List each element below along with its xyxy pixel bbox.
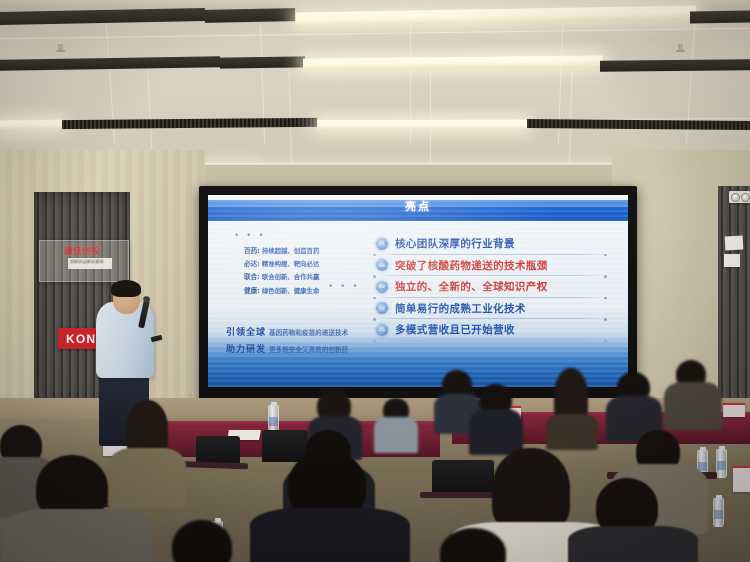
presentation-screen[interactable]: 亮点 • • • • • • 百药: 持续超越、创造百药 必达: 精准构建、靶向… [208,195,628,387]
slide-left-row: 必达: 精准构建、靶向必达 [244,258,319,268]
table-nameplate [733,466,750,492]
bullet-number-badge: 02 [376,259,388,271]
audience-torso [469,409,523,455]
audience-torso [250,508,410,562]
chair [432,460,494,494]
slide-bullet-item: 03 独立的、全新的、全球知识产权 [376,276,616,298]
slide-left-value: 联合创新、合作共赢 [262,272,320,281]
slide-bullet-item: 02 突破了核酸药物递送的技术瓶颈 [376,255,616,277]
bullet-text: 多模式营收且已开始营收 [395,322,515,337]
decorative-dots: • • • [234,231,266,241]
water-bottle [713,498,724,527]
plaque-title: 康佳创投 [64,244,100,257]
slide-left-key: 健康: [244,285,260,295]
slide-left-row: 百药: 持续超越、创造百药 [244,245,319,255]
wall-notice [724,254,740,267]
bullet-number-badge: 01 [376,238,388,250]
slide-left-row: 健康: 绿色创新、健康生命 [244,285,319,295]
emergency-light [729,191,750,203]
slide-bullet-list: 01 核心团队深厚的行业背景 02 突破了核酸药物递送的技术瓶颈 03 独立的、… [376,233,616,341]
sprinkler-head [678,44,683,52]
slide-left-value: 绿色创新、健康生命 [262,286,320,295]
slide-left-value: 精准构建、靶向必达 [262,259,320,268]
slide-left-value: 持续超越、创造百药 [262,246,320,255]
audience-torso [108,448,186,508]
bullet-text: 核心团队深厚的行业背景 [395,236,515,251]
bullet-number-badge: 04 [376,302,388,314]
plaque-subtitle: 创新创业孵化基地 [70,259,104,265]
audience-torso [664,382,722,430]
audience-torso [2,509,152,562]
slide-left-key: 联合: [244,271,260,281]
slide-bullet-item: 01 核心团队深厚的行业背景 [376,233,616,255]
table-nameplate [723,403,745,417]
audience-torso [546,414,598,450]
slide-footer-block: 引领全球 基因药物和疫苗的递送技术 助力研发 更多既安全又高效的创新药 [226,325,348,359]
bullet-number-badge: 05 [376,324,388,336]
slide-footer-key: 引领全球 [226,325,266,338]
slide-left-key: 百药: [244,245,260,255]
audience-hair [492,448,570,532]
slide-bullet-item: 04 简单易行的成熟工业化技术 [376,298,616,320]
audience-torso [374,417,418,453]
water-bottle [716,449,727,478]
bullet-text: 独立的、全新的、全球知识产权 [395,279,548,294]
slide-left-text-block: 百药: 持续超越、创造百药 必达: 精准构建、靶向必达 联合: 联合创新、合作共… [244,245,319,298]
slide-footer-value: 基因药物和疫苗的递送技术 [269,327,348,337]
wall-notice [725,236,744,251]
bullet-text: 简单易行的成熟工业化技术 [395,301,526,316]
slide-left-row: 联合: 联合创新、合作共赢 [244,271,319,281]
decorative-dots: • • • [328,282,360,292]
slide-footer-value: 更多既安全又高效的创新药 [269,344,348,354]
conference-room-photo: 康佳创投 创新创业孵化基地 KONKA 亮点 • • • • • • 百药: 持… [0,0,750,562]
audience-torso [568,526,698,562]
right-wall-slat-panel [718,186,750,416]
slide-left-key: 必达: [244,258,260,268]
presenter-hair [111,280,141,297]
slide-footer-row: 引领全球 基因药物和疫苗的递送技术 [226,325,348,338]
slide-bullet-item: 05 多模式营收且已开始营收 [376,319,616,341]
bullet-number-badge: 03 [376,281,388,293]
bullet-text: 突破了核酸药物递送的技术瓶颈 [395,258,548,273]
slide-footer-row: 助力研发 更多既安全又高效的创新药 [226,342,348,355]
sprinkler-head [58,44,63,52]
slide-footer-key: 助力研发 [226,342,266,355]
slide-title: 亮点 [208,195,628,216]
